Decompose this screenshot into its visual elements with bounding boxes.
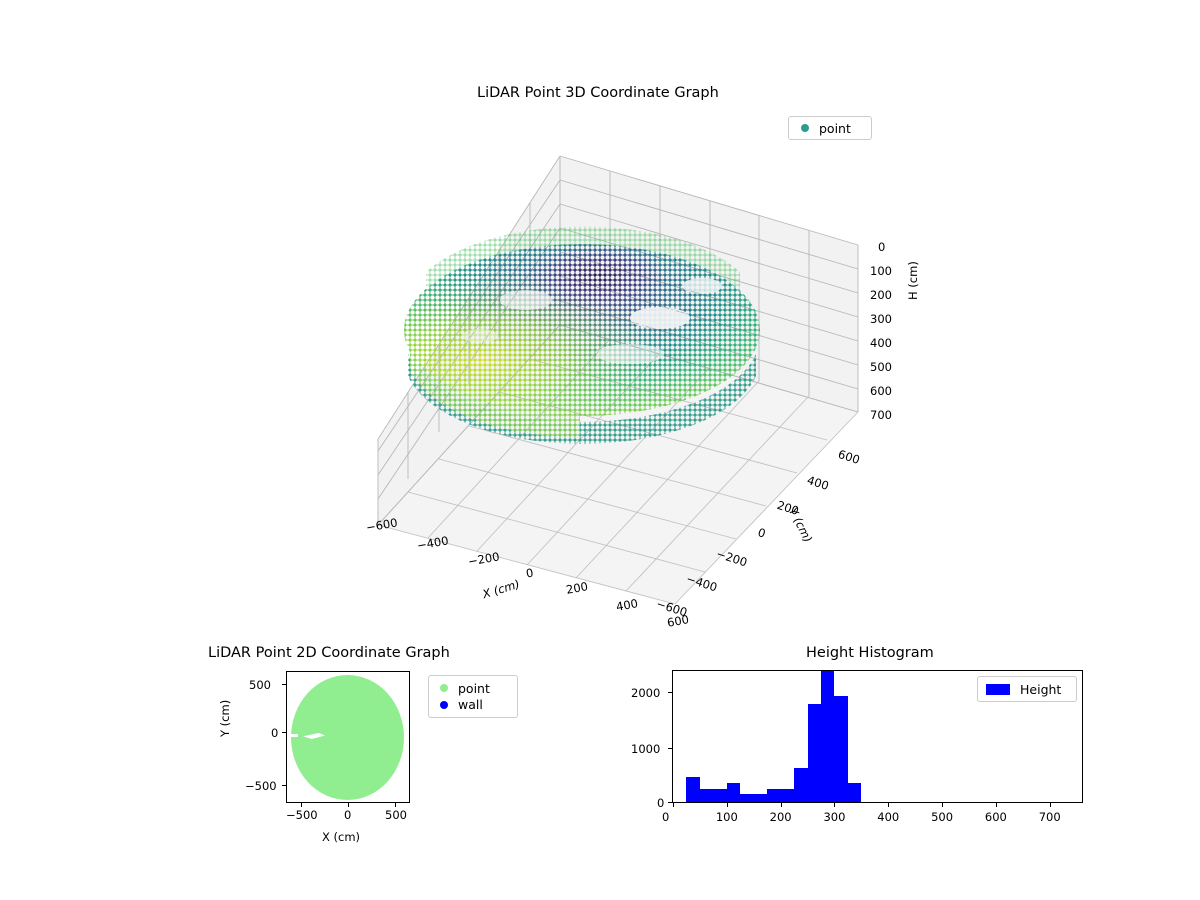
legend-label-wall: wall	[458, 697, 483, 712]
plot-2d-y-tick-minus500: −500	[245, 779, 277, 793]
histogram-x-tickmark	[996, 803, 997, 807]
histogram-x-tick-label: 300	[823, 810, 845, 824]
histogram-x-tick-label: 500	[931, 810, 953, 824]
plot-2d-y-tickmark-500	[282, 684, 286, 685]
plot-2d-x-tick-500: 500	[385, 808, 407, 822]
histogram-x-tick-label: 100	[716, 810, 738, 824]
legend-item-point: point	[797, 121, 863, 136]
histogram-x-tick-label: 0	[662, 810, 669, 824]
legend-item-wall: wall	[437, 697, 509, 714]
z-tick-400: 400	[870, 336, 892, 350]
plot-2d-y-tick-0: 0	[271, 726, 278, 740]
histogram-x-tickmark	[942, 803, 943, 807]
plot-2d-x-tickmark-minus500	[301, 803, 302, 807]
plot-2d-x-tickmark-0	[348, 803, 349, 807]
histogram-x-tickmark	[781, 803, 782, 807]
plot-2d-y-axis-label: Y (cm)	[218, 700, 232, 737]
plot-2d-x-tickmark-500	[395, 803, 396, 807]
legend-label-height: Height	[1020, 682, 1061, 697]
histogram-bar	[700, 789, 713, 802]
histogram-y-tick-2000: 2000	[631, 686, 660, 700]
lidar-point-cloud	[404, 227, 760, 444]
plot-3d-title: LiDAR Point 3D Coordinate Graph	[477, 85, 719, 101]
lidar-2d-plot[interactable]	[286, 671, 410, 803]
histogram-y-tick-0: 0	[657, 796, 664, 810]
plot-3d-legend: point	[788, 116, 872, 140]
z-tick-200: 200	[870, 288, 892, 302]
z-tick-500: 500	[870, 360, 892, 374]
legend-label-point: point	[458, 681, 490, 696]
histogram-bar	[754, 794, 767, 802]
histogram-bar	[808, 704, 821, 802]
histogram-bar	[767, 789, 780, 802]
histogram-x-tickmark	[673, 803, 674, 807]
legend-item-height: Height	[986, 681, 1068, 697]
histogram-y-tick-1000: 1000	[631, 742, 660, 756]
histogram-bar	[740, 794, 753, 802]
plot-2d-y-tickmark-0	[282, 732, 286, 733]
plot-2d-y-tickmark-minus500	[282, 785, 286, 786]
histogram-bar	[794, 768, 807, 802]
plot-2d-x-tick-0: 0	[344, 808, 351, 822]
histogram-bar	[727, 783, 740, 802]
point-marker-icon	[801, 124, 809, 132]
histogram-legend: Height	[977, 676, 1077, 702]
lidar-3d-canvas	[330, 140, 890, 620]
histogram-x-tick-label: 700	[1039, 810, 1061, 824]
z-tick-100: 100	[870, 264, 892, 278]
histogram-bar	[834, 696, 847, 802]
histogram-x-tickmark	[727, 803, 728, 807]
histogram-x-tickmark	[888, 803, 889, 807]
wall-marker-icon	[440, 701, 448, 709]
histogram-bar	[713, 789, 726, 802]
histogram-bar	[781, 789, 794, 802]
histogram-bar	[848, 783, 861, 802]
point-marker-icon	[440, 684, 448, 692]
histogram-bar	[821, 671, 834, 802]
histogram-x-tickmark	[834, 803, 835, 807]
histogram-y-tickmark-0	[668, 802, 672, 803]
histogram-x-tickmark	[1050, 803, 1051, 807]
plot-2d-x-tick-minus500: −500	[286, 808, 318, 822]
z-axis-label: H (cm)	[906, 261, 920, 300]
histogram-x-tick-label: 200	[770, 810, 792, 824]
histogram-bar	[686, 777, 699, 802]
plot-2d-legend: point wall	[428, 675, 518, 718]
legend-item-point: point	[437, 680, 509, 697]
plot-2d-title: LiDAR Point 2D Coordinate Graph	[208, 645, 450, 661]
height-swatch-icon	[986, 684, 1010, 695]
plot-2d-y-tick-500: 500	[249, 678, 271, 692]
point-cloud-edge-gap	[291, 734, 298, 737]
histogram-x-tick-label: 400	[877, 810, 899, 824]
legend-label-point: point	[819, 121, 851, 136]
z-tick-600: 600	[870, 384, 892, 398]
lidar-3d-plot[interactable]: 0 100 200 300 400 500 600 700 H (cm) −60…	[330, 140, 890, 620]
histogram-x-tick-label: 600	[985, 810, 1007, 824]
z-tick-700: 700	[870, 408, 892, 422]
histogram-y-tickmark-1000	[668, 748, 672, 749]
histogram-y-tickmark-2000	[668, 692, 672, 693]
histogram-title: Height Histogram	[806, 645, 934, 661]
plot-2d-x-axis-label: X (cm)	[322, 830, 360, 844]
z-tick-0: 0	[878, 240, 885, 254]
z-tick-300: 300	[870, 312, 892, 326]
